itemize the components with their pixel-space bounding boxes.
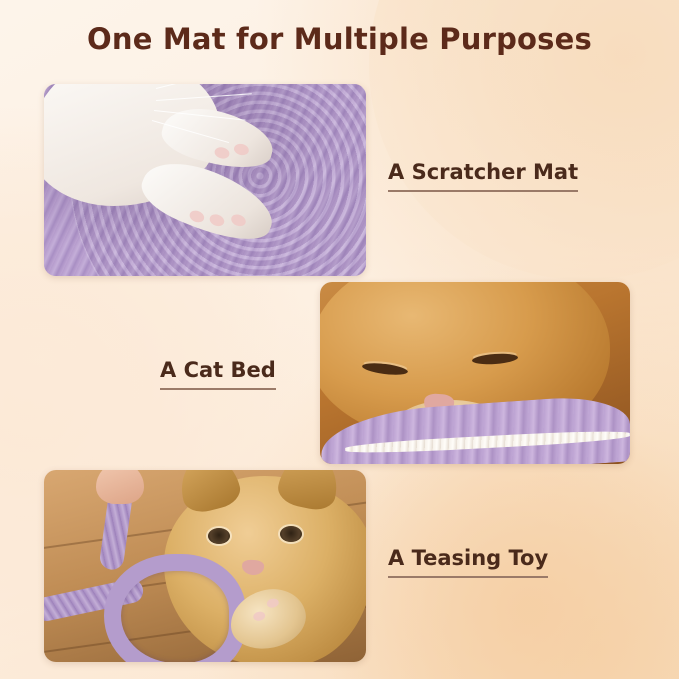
photo-teasing-toy (44, 470, 366, 662)
rope-knot-loop (104, 554, 246, 662)
toe-pad (229, 212, 247, 228)
toe-pad (252, 611, 266, 622)
product-feature-poster: One Mat for Multiple Purposes A Scratche… (0, 0, 679, 679)
toe-pad (266, 598, 280, 609)
human-hand (96, 470, 144, 504)
ginger-cat-ear-right (275, 470, 343, 513)
toe-pad (233, 142, 250, 156)
label-teasing-toy: A Teasing Toy (388, 546, 548, 578)
toe-pad (188, 209, 206, 225)
poster-title: One Mat for Multiple Purposes (0, 22, 679, 56)
label-scratcher-mat: A Scratcher Mat (388, 160, 578, 192)
ginger-cat-eye-right (280, 526, 302, 542)
toe-pad (208, 212, 226, 228)
toe-pad (213, 146, 230, 160)
ginger-cat-ear-left (174, 470, 243, 516)
ginger-cat-nose (242, 559, 265, 575)
label-cat-bed: A Cat Bed (160, 358, 276, 390)
ginger-cat-eye-left (208, 528, 230, 544)
photo-scratcher-mat (44, 84, 366, 276)
photo-cat-bed (320, 282, 630, 464)
